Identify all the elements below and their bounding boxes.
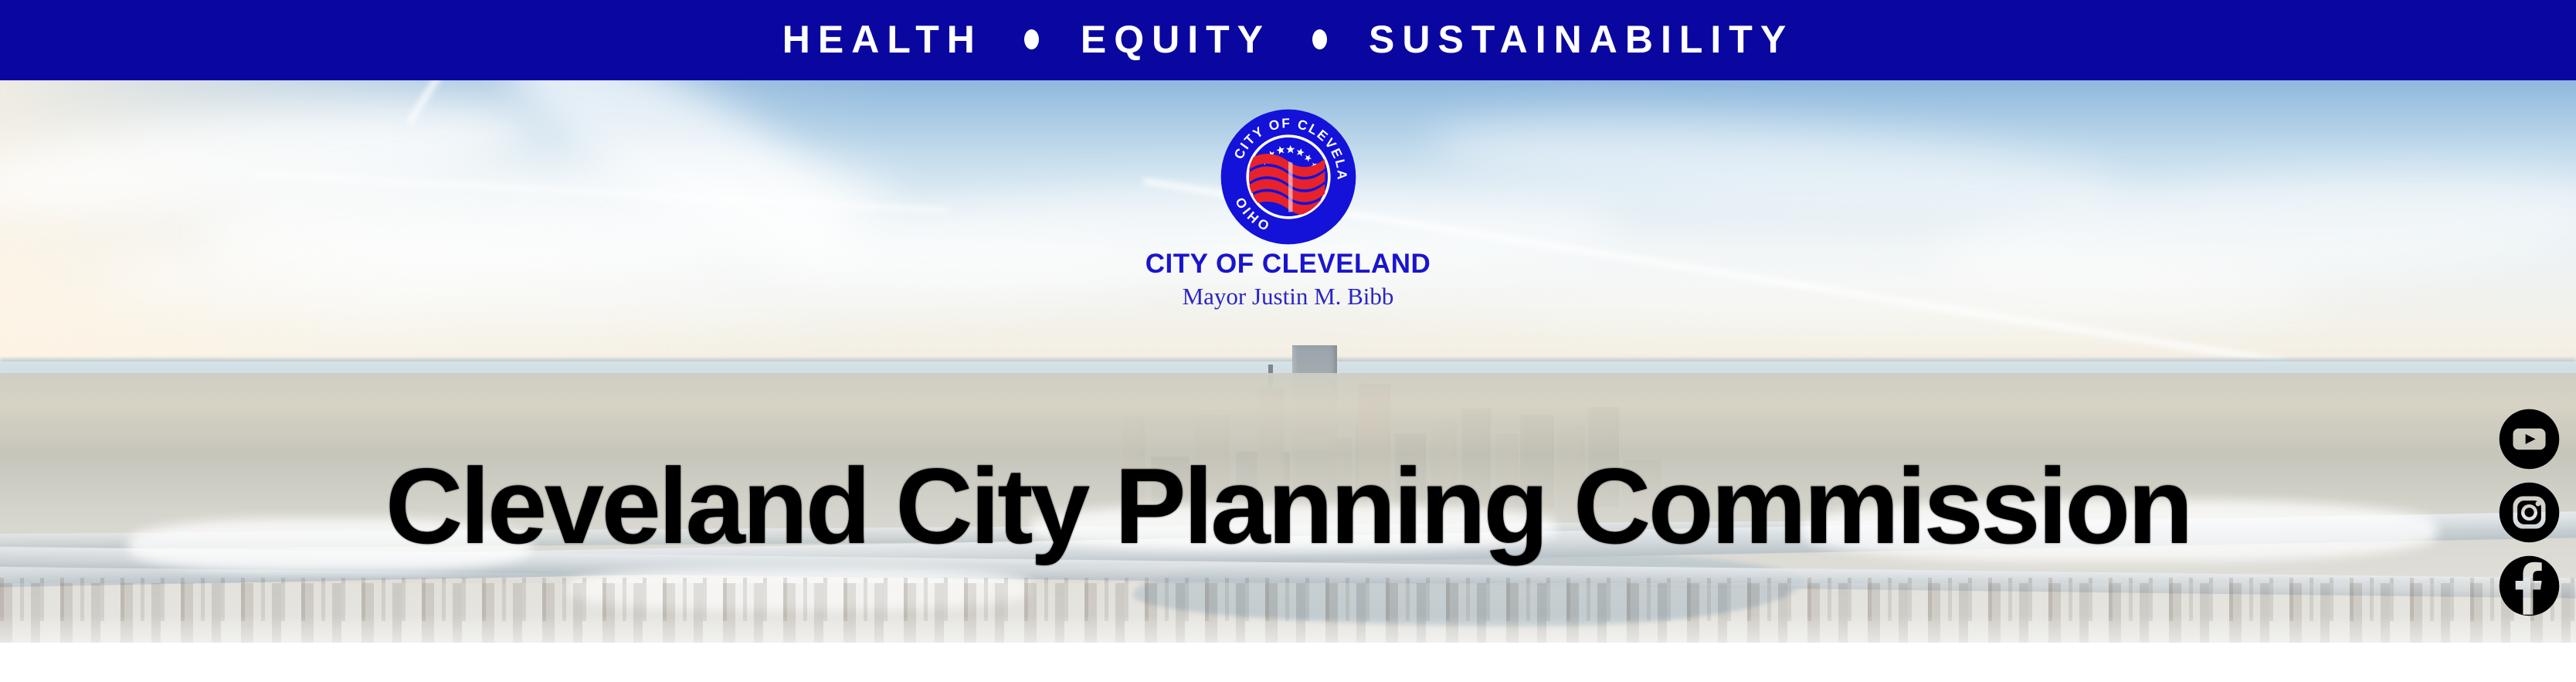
- city-brand-lockup: CITY OF CLEVELAND OHIO: [1018, 107, 1559, 310]
- page-title: Cleveland City Planning Commission: [0, 453, 2576, 560]
- city-of-cleveland-seal: CITY OF CLEVELAND OHIO: [1218, 107, 1359, 247]
- facebook-icon[interactable]: [2498, 555, 2561, 617]
- bullet-dot-icon: [1312, 29, 1327, 49]
- tagline-bar: HEALTH EQUITY SUSTAINABILITY: [0, 0, 2576, 80]
- tagline-word-equity: EQUITY: [1081, 20, 1271, 59]
- photo-bottom-fade: [0, 616, 2576, 643]
- footer-strip: [0, 643, 2576, 682]
- bullet-dot-icon: [1024, 29, 1039, 49]
- brand-title: CITY OF CLEVELAND: [1018, 249, 1559, 280]
- tagline-word-sustainability: SUSTAINABILITY: [1369, 20, 1794, 59]
- tagline-word-health: HEALTH: [782, 20, 983, 59]
- tagline-inner: HEALTH EQUITY SUSTAINABILITY: [782, 20, 1794, 59]
- brand-subtitle-mayor: Mayor Justin M. Bibb: [1018, 282, 1559, 310]
